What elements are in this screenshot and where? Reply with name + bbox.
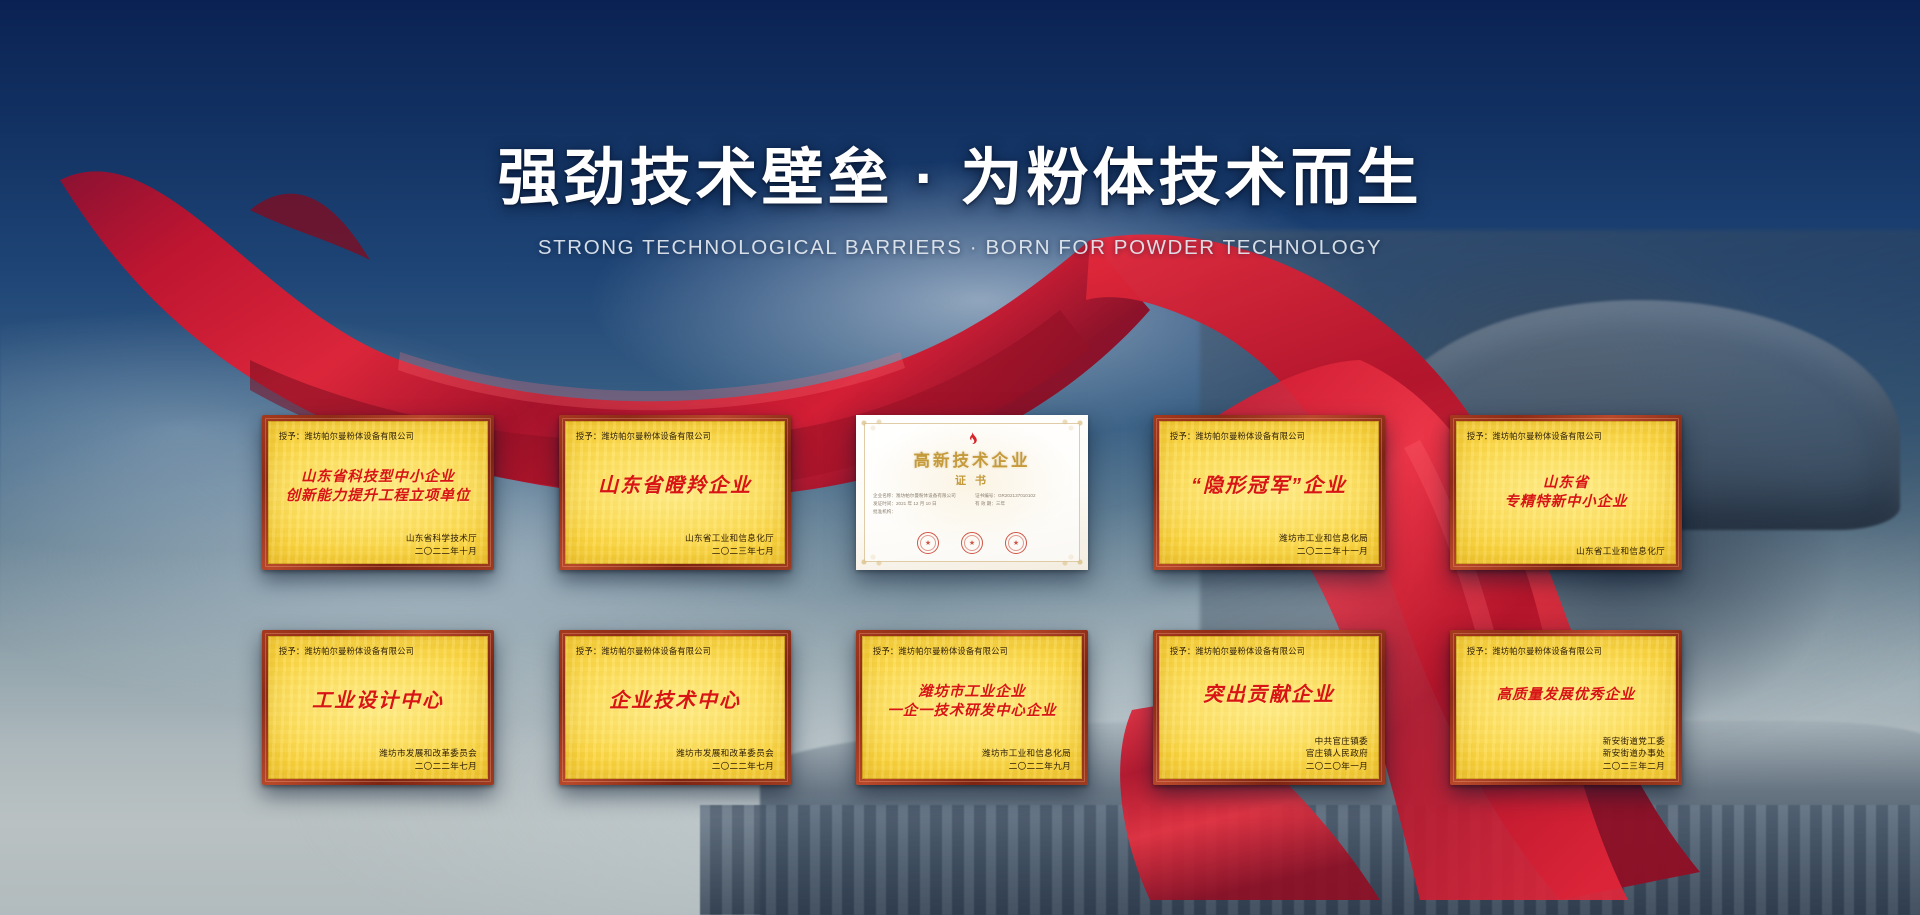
plaque-issuer-line: 二〇二〇年一月 (1170, 760, 1368, 772)
flame-emblem-icon (964, 431, 980, 446)
plaque-issuer-line: 二〇二二年九月 (873, 760, 1071, 772)
plaque-issuer: 潍坊市工业和信息化局二〇二二年九月 (873, 747, 1071, 772)
plaque-issuer-line: 新安街道党工委 (1467, 735, 1665, 747)
banner-headings: 强劲技术壁垒 · 为粉体技术而生 STRONG TECHNOLOGICAL BA… (0, 148, 1920, 260)
plaque-awardee: 授予：潍坊帕尔曼粉体设备有限公司 (1170, 645, 1360, 657)
plaque-body: 授予：潍坊帕尔曼粉体设备有限公司山东省科技型中小企业创新能力提升工程立项单位山东… (268, 421, 488, 564)
plaque-body: 授予：潍坊帕尔曼粉体设备有限公司企业技术中心潍坊市发展和改革委员会二〇二二年七月 (565, 636, 785, 779)
plaque-issuer-line: 中共官庄镇委 (1170, 735, 1368, 747)
official-seal-icon (917, 532, 939, 554)
awards-grid: 授予：潍坊帕尔曼粉体设备有限公司山东省科技型中小企业创新能力提升工程立项单位山东… (262, 415, 1682, 785)
plaque-issuer: 潍坊市发展和改革委员会二〇二二年七月 (279, 747, 477, 772)
plaque-title-line: “隐形冠军”企业 (1191, 475, 1347, 499)
certificate-field: 有 效 期：三年 (975, 501, 1071, 508)
plaque-issuer-line: 山东省工业和信息化厅 (1467, 545, 1665, 557)
plaque-issuer-line: 官庄镇人民政府 (1170, 747, 1368, 759)
plaque-issuer-line: 潍坊市工业和信息化局 (873, 747, 1071, 759)
plaque-issuer-line: 潍坊市发展和改革委员会 (279, 747, 477, 759)
plaque-issuer: 潍坊市发展和改革委员会二〇二二年七月 (576, 747, 774, 772)
certificate-subtitle: 证 书 (955, 472, 989, 488)
award-plaque[interactable]: 授予：潍坊帕尔曼粉体设备有限公司突出贡献企业中共官庄镇委官庄镇人民政府二〇二〇年… (1153, 630, 1385, 785)
award-plaque[interactable]: 授予：潍坊帕尔曼粉体设备有限公司潍坊市工业企业一企一技术研发中心企业潍坊市工业和… (856, 630, 1088, 785)
stone-plinth-relief (700, 805, 1920, 915)
plaque-title: 企业技术中心 (576, 658, 774, 746)
plaque-title-line: 山东省瞪羚企业 (598, 475, 752, 499)
plaque-title: 潍坊市工业企业一企一技术研发中心企业 (873, 658, 1071, 746)
plaque-issuer-line: 二〇二二年十一月 (1170, 545, 1368, 557)
certificate-body: 高新技术企业证 书企业名称：潍坊帕尔曼粉体设备有限公司证书编号：GR202137… (864, 423, 1080, 562)
banner-stage: 强劲技术壁垒 · 为粉体技术而生 STRONG TECHNOLOGICAL BA… (0, 0, 1920, 915)
plaque-issuer: 中共官庄镇委官庄镇人民政府二〇二〇年一月 (1170, 735, 1368, 772)
plaque-issuer-line: 山东省工业和信息化厅 (576, 532, 774, 544)
plaque-issuer-line: 潍坊市发展和改革委员会 (576, 747, 774, 759)
plaque-title-line: 一企一技术研发中心企业 (887, 703, 1056, 720)
award-plaque[interactable]: 授予：潍坊帕尔曼粉体设备有限公司工业设计中心潍坊市发展和改革委员会二〇二二年七月 (262, 630, 494, 785)
plaque-title: 工业设计中心 (279, 658, 477, 746)
certificate-field: 发证时间：2021 年 12 月 10 日 (873, 501, 969, 508)
certificate-high-tech-enterprise[interactable]: 高新技术企业证 书企业名称：潍坊帕尔曼粉体设备有限公司证书编号：GR202137… (856, 415, 1088, 570)
award-plaque[interactable]: 授予：潍坊帕尔曼粉体设备有限公司山东省瞪羚企业山东省工业和信息化厅二〇二三年七月 (559, 415, 791, 570)
plaque-issuer-line: 二〇二二年七月 (576, 760, 774, 772)
plaque-body: 授予：潍坊帕尔曼粉体设备有限公司“隐形冠军”企业潍坊市工业和信息化局二〇二二年十… (1159, 421, 1379, 564)
plaque-title-line: 工业设计中心 (312, 690, 444, 714)
plaque-awardee: 授予：潍坊帕尔曼粉体设备有限公司 (1467, 645, 1657, 657)
plaque-issuer: 山东省工业和信息化厅二〇二三年七月 (576, 532, 774, 557)
plaque-awardee: 授予：潍坊帕尔曼粉体设备有限公司 (576, 430, 766, 442)
plaque-title-line: 创新能力提升工程立项单位 (286, 488, 471, 505)
plaque-issuer-line: 二〇二三年七月 (576, 545, 774, 557)
plaque-title-line: 突出贡献企业 (1203, 684, 1335, 708)
plaque-awardee: 授予：潍坊帕尔曼粉体设备有限公司 (1170, 430, 1360, 442)
certificate-field: 批准机构： (873, 509, 969, 516)
plaque-awardee: 授予：潍坊帕尔曼粉体设备有限公司 (279, 430, 469, 442)
plaque-issuer-line: 山东省科学技术厅 (279, 532, 477, 544)
award-plaque[interactable]: 授予：潍坊帕尔曼粉体设备有限公司山东省科技型中小企业创新能力提升工程立项单位山东… (262, 415, 494, 570)
plaque-title: “隐形冠军”企业 (1170, 443, 1368, 531)
plaque-title-line: 企业技术中心 (609, 690, 741, 714)
plaque-issuer: 新安街道党工委新安街道办事处二〇二三年二月 (1467, 735, 1665, 772)
official-seal-icon (961, 532, 983, 554)
plaque-body: 授予：潍坊帕尔曼粉体设备有限公司工业设计中心潍坊市发展和改革委员会二〇二二年七月 (268, 636, 488, 779)
plaque-issuer-line: 二〇二二年七月 (279, 760, 477, 772)
plaque-issuer-line: 二〇二三年二月 (1467, 760, 1665, 772)
certificate-seals (917, 532, 1027, 554)
plaque-body: 授予：潍坊帕尔曼粉体设备有限公司潍坊市工业企业一企一技术研发中心企业潍坊市工业和… (862, 636, 1082, 779)
page-subtitle: STRONG TECHNOLOGICAL BARRIERS · BORN FOR… (0, 236, 1920, 260)
plaque-body: 授予：潍坊帕尔曼粉体设备有限公司山东省专精特新中小企业山东省工业和信息化厅 (1456, 421, 1676, 564)
certificate-fields: 企业名称：潍坊帕尔曼粉体设备有限公司证书编号：GR202137010102发证时… (873, 493, 1071, 516)
plaque-title-line: 专精特新中小企业 (1504, 494, 1627, 511)
plaque-body: 授予：潍坊帕尔曼粉体设备有限公司山东省瞪羚企业山东省工业和信息化厅二〇二三年七月 (565, 421, 785, 564)
plaque-title-line: 山东省科技型中小企业 (301, 469, 455, 486)
certificate-field: 企业名称：潍坊帕尔曼粉体设备有限公司 (873, 493, 969, 500)
award-plaque[interactable]: 授予：潍坊帕尔曼粉体设备有限公司“隐形冠军”企业潍坊市工业和信息化局二〇二二年十… (1153, 415, 1385, 570)
plaque-title: 山东省科技型中小企业创新能力提升工程立项单位 (279, 443, 477, 531)
certificate-title: 高新技术企业 (914, 447, 1031, 471)
plaque-title: 山东省专精特新中小企业 (1467, 443, 1665, 544)
plaque-title: 山东省瞪羚企业 (576, 443, 774, 531)
official-seal-icon (1005, 532, 1027, 554)
plaque-title-line: 潍坊市工业企业 (918, 684, 1026, 701)
plaque-title: 突出贡献企业 (1170, 658, 1368, 734)
plaque-body: 授予：潍坊帕尔曼粉体设备有限公司高质量发展优秀企业新安街道党工委新安街道办事处二… (1456, 636, 1676, 779)
award-plaque[interactable]: 授予：潍坊帕尔曼粉体设备有限公司企业技术中心潍坊市发展和改革委员会二〇二二年七月 (559, 630, 791, 785)
plaque-title: 高质量发展优秀企业 (1467, 658, 1665, 734)
plaque-issuer: 山东省工业和信息化厅 (1467, 545, 1665, 557)
plaque-title-line: 山东省 (1543, 475, 1589, 492)
plaque-title-line: 高质量发展优秀企业 (1497, 687, 1636, 704)
page-title: 强劲技术壁垒 · 为粉体技术而生 (0, 148, 1920, 210)
plaque-issuer-line: 二〇二二年十月 (279, 545, 477, 557)
plaque-awardee: 授予：潍坊帕尔曼粉体设备有限公司 (576, 645, 766, 657)
award-plaque[interactable]: 授予：潍坊帕尔曼粉体设备有限公司山东省专精特新中小企业山东省工业和信息化厅 (1450, 415, 1682, 570)
plaque-awardee: 授予：潍坊帕尔曼粉体设备有限公司 (873, 645, 1063, 657)
plaque-issuer: 山东省科学技术厅二〇二二年十月 (279, 532, 477, 557)
certificate-field: 证书编号：GR202137010102 (975, 493, 1071, 500)
plaque-issuer: 潍坊市工业和信息化局二〇二二年十一月 (1170, 532, 1368, 557)
plaque-issuer-line: 新安街道办事处 (1467, 747, 1665, 759)
plaque-issuer-line: 潍坊市工业和信息化局 (1170, 532, 1368, 544)
plaque-awardee: 授予：潍坊帕尔曼粉体设备有限公司 (1467, 430, 1657, 442)
award-plaque[interactable]: 授予：潍坊帕尔曼粉体设备有限公司高质量发展优秀企业新安街道党工委新安街道办事处二… (1450, 630, 1682, 785)
plaque-body: 授予：潍坊帕尔曼粉体设备有限公司突出贡献企业中共官庄镇委官庄镇人民政府二〇二〇年… (1159, 636, 1379, 779)
plaque-awardee: 授予：潍坊帕尔曼粉体设备有限公司 (279, 645, 469, 657)
